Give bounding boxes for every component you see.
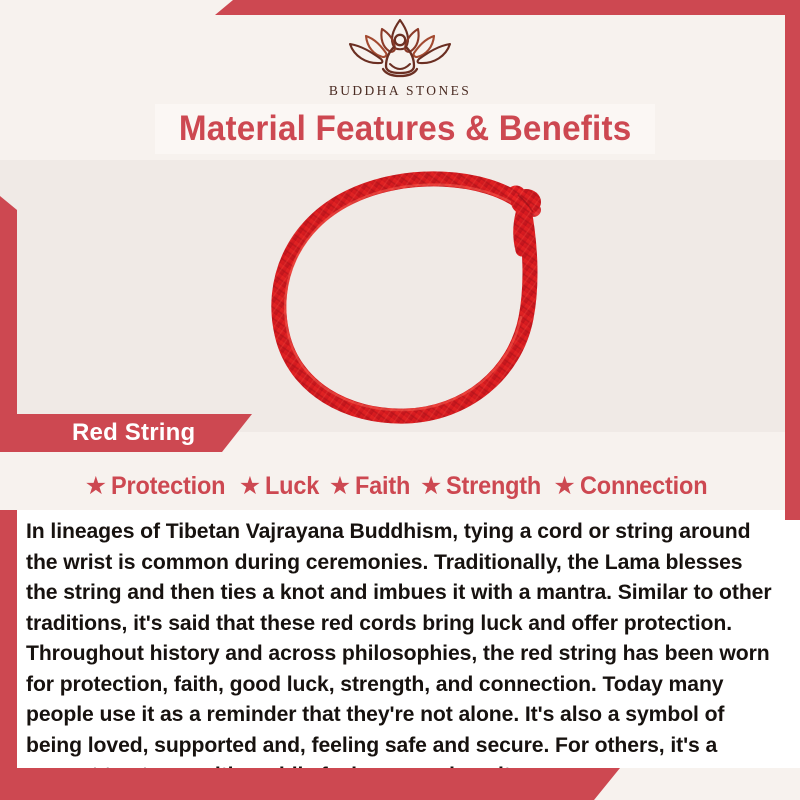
benefit-item-luck: ★ Luck	[239, 472, 323, 501]
product-infographic: BUDDHA STONES Material Features & Benefi…	[0, 0, 800, 800]
benefit-item-connection: ★ Connection	[553, 472, 715, 501]
decor-frame-right-bar	[785, 0, 800, 520]
product-image-area	[0, 160, 800, 432]
benefit-item-protection: ★ Protection	[85, 472, 233, 501]
description-panel: In lineages of Tibetan Vajrayana Buddhis…	[17, 510, 800, 768]
brand-logo-block: BUDDHA STONES	[0, 14, 800, 99]
benefit-label: Connection	[580, 472, 707, 501]
decor-frame-bottom-bar	[0, 768, 620, 800]
star-icon: ★	[420, 474, 442, 499]
material-label-text: Red String	[72, 419, 195, 447]
red-braided-cord-bracelet	[230, 162, 570, 424]
description-text: In lineages of Tibetan Vajrayana Buddhis…	[26, 516, 777, 791]
lotus-meditation-icon	[336, 14, 464, 80]
star-icon: ★	[85, 474, 107, 499]
benefit-item-strength: ★ Strength	[420, 472, 548, 501]
decor-frame-top-bar	[215, 0, 800, 15]
brand-wordmark: BUDDHA STONES	[329, 83, 471, 99]
title-banner: Material Features & Benefits	[155, 104, 655, 154]
benefit-label: Faith	[355, 472, 410, 501]
benefit-label: Luck	[265, 472, 319, 501]
page-title: Material Features & Benefits	[179, 109, 631, 149]
benefit-label: Strength	[446, 472, 541, 501]
star-icon: ★	[329, 474, 351, 499]
material-label-banner: Red String	[0, 414, 252, 452]
decor-frame-left-bar-upper	[0, 196, 17, 432]
benefit-item-faith: ★ Faith	[329, 472, 414, 501]
benefit-label: Protection	[111, 472, 225, 501]
star-icon: ★	[553, 474, 575, 499]
benefits-list: ★ Protection ★ Luck ★ Faith ★ Strength ★…	[0, 464, 800, 508]
star-icon: ★	[239, 474, 261, 499]
decor-frame-left-bar-lower	[0, 510, 17, 768]
